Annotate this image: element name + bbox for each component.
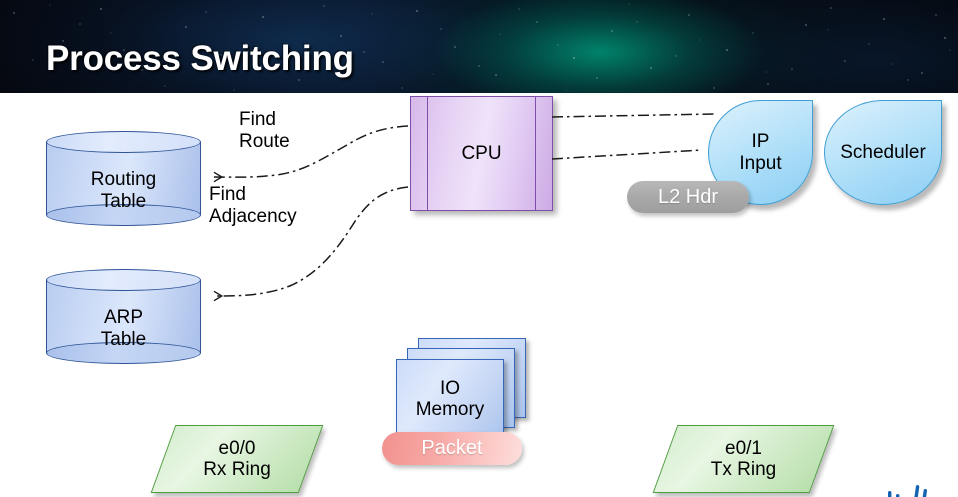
node-rx-ring[interactable]: e0/0 Rx Ring: [163, 425, 311, 493]
edge-label-line1: Find: [209, 184, 297, 206]
page-title: Process Switching: [46, 39, 354, 79]
connector-cpu-ip-input-lower: [552, 150, 702, 159]
document-sheet-front: [396, 359, 504, 439]
edge-label-line2: Route: [239, 131, 290, 153]
node-scheduler[interactable]: Scheduler: [824, 100, 942, 205]
node-cpu[interactable]: CPU: [410, 96, 553, 211]
slide-canvas: Process Switching Routing Table ARP Tabl…: [0, 0, 958, 497]
badge-label: Packet: [421, 437, 482, 460]
badge-packet[interactable]: Packet: [382, 432, 522, 465]
node-label: CPU: [411, 97, 552, 210]
node-label-line1: CPU: [461, 143, 501, 164]
connector-cpu-ip-input-upper: [552, 114, 714, 117]
badge-l2-hdr[interactable]: L2 Hdr: [627, 181, 749, 213]
edge-label-find-route: Find Route: [239, 109, 290, 153]
process-bar-left: [427, 97, 428, 210]
node-label: Scheduler: [825, 101, 941, 204]
node-label-line1: IP: [752, 131, 770, 152]
edge-label-find-adjacency: Find Adjacency: [209, 184, 297, 228]
parallelogram-body: [653, 425, 835, 493]
node-tx-ring[interactable]: e0/1 Tx Ring: [665, 425, 822, 493]
cylinder-bottom: [46, 204, 201, 226]
cylinder-bottom: [46, 342, 201, 364]
node-arp-table[interactable]: ARP Table: [46, 269, 201, 364]
edge-label-line2: Adjacency: [209, 206, 297, 228]
edge-label-line1: Find: [239, 109, 290, 131]
process-bar-right: [535, 97, 536, 210]
cisco-logo: [860, 461, 952, 497]
node-routing-table[interactable]: Routing Table: [46, 131, 201, 226]
node-label-line2: Input: [739, 153, 781, 174]
badge-label: L2 Hdr: [658, 186, 718, 209]
parallelogram-body: [151, 425, 324, 493]
cylinder-top: [46, 131, 201, 153]
cylinder-top: [46, 269, 201, 291]
node-label-line1: Scheduler: [840, 142, 926, 163]
cisco-logo-icon: [860, 461, 952, 497]
